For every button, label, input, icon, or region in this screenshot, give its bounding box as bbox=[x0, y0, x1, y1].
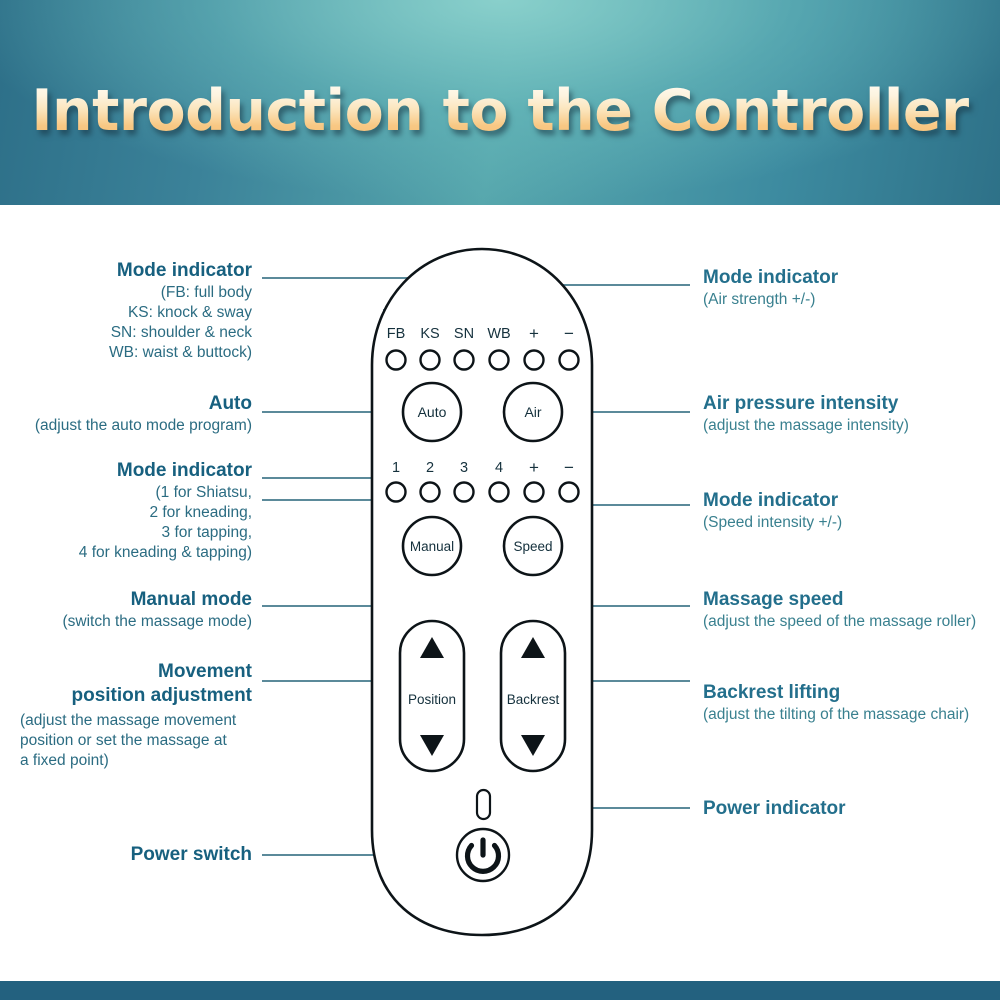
indicator-speed-minus bbox=[560, 483, 579, 502]
position-pad-label: Position bbox=[408, 692, 456, 707]
power-button[interactable] bbox=[457, 829, 509, 881]
annotation-sub-line: (FB: full body bbox=[20, 283, 252, 303]
backrest-pad-label: Backrest bbox=[507, 692, 560, 707]
air-button-label: Air bbox=[524, 404, 541, 420]
indicator-3 bbox=[455, 483, 474, 502]
indicator-ks bbox=[421, 351, 440, 370]
annotation-power-indicator: Power indicator bbox=[703, 797, 993, 821]
annotation-mode-indicator-speed: Mode indicator (Speed intensity +/-) bbox=[703, 489, 993, 533]
annotation-movement-position-adjustment: Movement position adjustment (adjust the… bbox=[20, 660, 252, 772]
annotation-sub-line: (switch the massage mode) bbox=[20, 612, 252, 632]
slide-root: Introduction to the Controller bbox=[0, 0, 1000, 1000]
label-wb: WB bbox=[487, 326, 510, 342]
annotation-sub-line: (adjust the massage movement bbox=[20, 711, 252, 731]
annotation-title: Mode indicator bbox=[703, 266, 993, 290]
annotation-air-pressure-intensity: Air pressure intensity (adjust the massa… bbox=[703, 392, 998, 436]
annotation-manual-mode: Manual mode (switch the massage mode) bbox=[20, 588, 252, 632]
label-speed-minus: − bbox=[564, 458, 574, 477]
annotation-sub-line: WB: waist & buttock) bbox=[20, 343, 252, 363]
annotation-sub-line: 2 for kneading, bbox=[20, 503, 252, 523]
label-1: 1 bbox=[392, 460, 400, 476]
annotation-backrest-lifting: Backrest lifting (adjust the tilting of … bbox=[703, 681, 998, 725]
backrest-pad[interactable]: Backrest bbox=[501, 621, 565, 771]
annotation-sub-line: (Speed intensity +/-) bbox=[703, 513, 993, 533]
indicator-wb bbox=[490, 351, 509, 370]
annotation-title: Mode indicator bbox=[20, 459, 252, 483]
indicator-air-plus bbox=[525, 351, 544, 370]
annotation-sub-line: SN: shoulder & neck bbox=[20, 323, 252, 343]
annotation-sub-line: (adjust the tilting of the massage chair… bbox=[703, 705, 998, 725]
annotation-sub-line: KS: knock & sway bbox=[20, 303, 252, 323]
annotation-title: Mode indicator bbox=[703, 489, 993, 513]
label-fb: FB bbox=[387, 326, 406, 342]
annotation-title: Backrest lifting bbox=[703, 681, 998, 705]
power-led-icon bbox=[477, 790, 490, 819]
auto-button-label: Auto bbox=[418, 404, 447, 420]
annotation-title: Auto bbox=[10, 392, 252, 416]
label-air-plus: + bbox=[529, 324, 539, 343]
label-sn: SN bbox=[454, 326, 474, 342]
indicator-4 bbox=[490, 483, 509, 502]
annotation-sub-line: (Air strength +/-) bbox=[703, 290, 993, 310]
label-3: 3 bbox=[460, 460, 468, 476]
annotation-sub-line: (adjust the speed of the massage roller) bbox=[703, 612, 998, 632]
label-speed-plus: + bbox=[529, 458, 539, 477]
annotation-sub-line: (adjust the massage intensity) bbox=[703, 416, 998, 436]
annotation-mode-indicator-numbers: Mode indicator (1 for Shiatsu, 2 for kne… bbox=[20, 459, 252, 563]
label-ks: KS bbox=[420, 326, 439, 342]
annotation-massage-speed: Massage speed (adjust the speed of the m… bbox=[703, 588, 998, 632]
label-4: 4 bbox=[495, 460, 503, 476]
annotation-title: position adjustment bbox=[20, 684, 252, 708]
indicator-sn bbox=[455, 351, 474, 370]
position-pad[interactable]: Position bbox=[400, 621, 464, 771]
annotation-title: Manual mode bbox=[20, 588, 252, 612]
label-2: 2 bbox=[426, 460, 434, 476]
annotation-title: Movement bbox=[20, 660, 252, 684]
annotation-title: Power indicator bbox=[703, 797, 993, 821]
manual-button-label: Manual bbox=[410, 539, 454, 554]
annotation-sub-line: (1 for Shiatsu, bbox=[20, 483, 252, 503]
annotation-mode-indicator-air: Mode indicator (Air strength +/-) bbox=[703, 266, 993, 310]
indicator-fb bbox=[387, 351, 406, 370]
footer-strip bbox=[0, 981, 1000, 1000]
speed-button-label: Speed bbox=[513, 539, 552, 554]
annotation-power-switch: Power switch bbox=[20, 843, 252, 867]
annotation-title: Air pressure intensity bbox=[703, 392, 998, 416]
indicator-speed-plus bbox=[525, 483, 544, 502]
annotation-sub-line: (adjust the auto mode program) bbox=[10, 416, 252, 436]
annotation-title: Massage speed bbox=[703, 588, 998, 612]
label-air-minus: − bbox=[564, 324, 574, 343]
annotation-title: Mode indicator bbox=[20, 259, 252, 283]
annotation-sub-block: (adjust the massage movement position or… bbox=[20, 711, 252, 771]
annotation-sub-line: 3 for tapping, bbox=[20, 523, 252, 543]
annotation-title: Power switch bbox=[20, 843, 252, 867]
annotation-auto: Auto (adjust the auto mode program) bbox=[10, 392, 252, 436]
annotation-sub-line: position or set the massage at bbox=[20, 731, 252, 751]
annotation-mode-indicator-fb: Mode indicator (FB: full body KS: knock … bbox=[20, 259, 252, 363]
indicator-1 bbox=[387, 483, 406, 502]
annotation-sub-line: a fixed point) bbox=[20, 751, 252, 771]
annotation-sub-line: 4 for kneading & tapping) bbox=[20, 543, 252, 563]
indicator-2 bbox=[421, 483, 440, 502]
indicator-air-minus bbox=[560, 351, 579, 370]
